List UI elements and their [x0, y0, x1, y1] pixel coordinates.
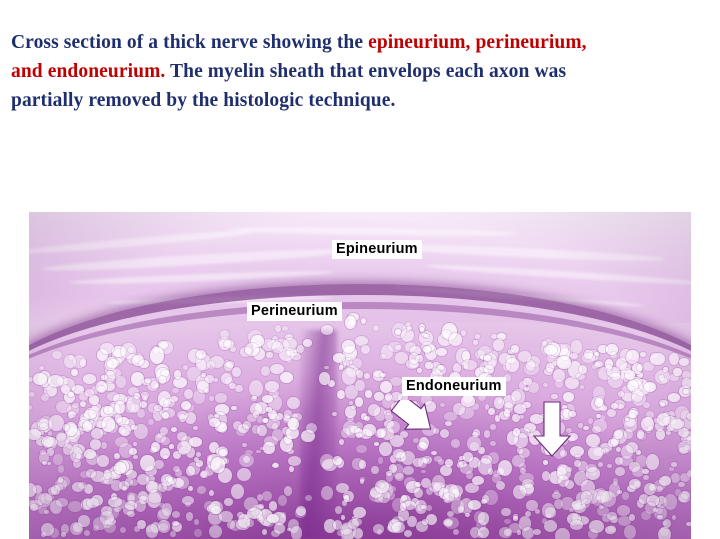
axon-profile	[58, 465, 64, 472]
axon-profile	[461, 395, 475, 407]
axon-profile	[100, 343, 113, 354]
axon-profile	[528, 382, 539, 393]
axon-profile	[114, 462, 125, 474]
axon-profile	[478, 458, 492, 475]
axon-profile	[100, 511, 113, 525]
axon-profile	[148, 490, 161, 504]
axon-profile	[291, 353, 300, 360]
axon-profile	[641, 417, 654, 431]
axon-profile	[176, 476, 190, 489]
axon-profile	[664, 494, 677, 509]
axon-profile	[580, 385, 584, 389]
axon-profile	[533, 529, 540, 535]
axon-profile	[501, 508, 511, 517]
axon-profile	[78, 482, 86, 488]
axon-profile	[64, 355, 76, 368]
axon-profile	[177, 441, 191, 454]
axon-profile	[134, 424, 148, 440]
axon-profile	[170, 531, 175, 537]
axon-profile	[542, 471, 550, 481]
axon-profile	[236, 428, 246, 436]
axon-profile	[424, 334, 429, 338]
axon-profile	[519, 415, 524, 418]
axon-profile	[29, 405, 32, 410]
axon-profile	[215, 393, 226, 403]
axon-profile	[253, 411, 259, 418]
axon-profile	[173, 377, 187, 388]
axon-profile	[636, 455, 647, 467]
axon-profile	[164, 399, 174, 407]
axon-profile	[154, 460, 164, 469]
axon-profile	[582, 499, 590, 508]
axon-profile	[224, 340, 234, 348]
axon-profile	[297, 345, 304, 353]
axon-profile	[342, 368, 356, 385]
axon-profile	[262, 491, 273, 501]
axon-profile	[72, 403, 78, 408]
axon-profile	[116, 376, 126, 387]
axon-profile	[289, 466, 294, 471]
axon-profile	[593, 419, 607, 433]
axon-profile	[140, 455, 154, 471]
axon-profile	[682, 371, 690, 379]
axon-profile	[678, 441, 691, 453]
axon-profile	[266, 352, 272, 358]
endoneurium-pointer-arrow-right	[531, 400, 577, 460]
axon-profile	[349, 401, 354, 405]
axon-profile	[353, 507, 365, 518]
axon-profile	[632, 389, 643, 402]
axon-profile	[632, 466, 644, 477]
axon-profile	[650, 353, 665, 364]
axon-profile	[444, 517, 459, 529]
axon-profile	[266, 407, 272, 412]
caption-line-2: and endoneurium. The myelin sheath that …	[11, 57, 711, 86]
axon-profile	[368, 404, 380, 416]
axon-profile	[484, 430, 491, 437]
caption-line-1: Cross section of a thick nerve showing t…	[11, 28, 711, 57]
axon-profile	[420, 327, 425, 332]
axon-profile	[245, 347, 252, 354]
axon-profile	[355, 429, 364, 437]
axon-profile	[363, 424, 376, 436]
axon-profile	[242, 443, 247, 448]
axon-profile	[374, 392, 383, 401]
axon-profile	[374, 442, 379, 446]
axon-profile	[522, 527, 534, 539]
axon-profile	[133, 442, 137, 446]
label-endoneurium: Endoneurium	[402, 377, 506, 396]
axon-profile	[567, 467, 572, 472]
axon-profile	[361, 318, 366, 324]
axon-profile	[352, 518, 362, 526]
axon-profile	[683, 389, 689, 395]
axon-profile	[403, 466, 414, 475]
axon-profile	[119, 481, 129, 489]
axon-profile	[224, 498, 233, 506]
axon-profile	[201, 470, 209, 477]
axon-profile	[291, 526, 302, 539]
axon-profile	[269, 501, 277, 511]
axon-profile	[570, 353, 578, 359]
axon-profile	[511, 391, 520, 401]
axon-profile	[137, 474, 149, 485]
axon-profile	[336, 483, 348, 493]
axon-profile	[119, 425, 130, 437]
axon-profile	[30, 500, 41, 509]
caption-segment: partially removed by the histologic tech…	[11, 90, 395, 111]
axon-profile	[303, 339, 312, 346]
axon-profile	[282, 326, 288, 331]
axon-profile	[177, 432, 188, 441]
axon-profile	[462, 360, 476, 370]
axon-profile	[687, 470, 691, 477]
axon-profile	[390, 377, 401, 385]
axon-profile	[342, 500, 347, 506]
axon-profile	[84, 449, 96, 460]
axon-profile	[247, 519, 254, 527]
axon-profile	[637, 364, 643, 371]
axon-profile	[359, 460, 367, 469]
axon-profile	[272, 342, 283, 353]
axon-profile	[243, 421, 250, 429]
axon-profile	[186, 512, 194, 521]
axon-profile	[29, 392, 35, 397]
axon-profile	[373, 325, 379, 330]
axon-profile	[655, 370, 670, 384]
axon-profile	[669, 353, 678, 364]
axon-profile	[120, 527, 126, 533]
axon-profile	[557, 356, 570, 370]
axon-profile	[404, 530, 412, 537]
axon-profile	[436, 348, 447, 356]
axon-profile	[511, 345, 519, 353]
axon-profile	[91, 428, 103, 439]
axon-profile	[441, 330, 451, 337]
axon-profile	[475, 334, 481, 339]
axon-profile	[68, 392, 74, 397]
axon-profile	[518, 351, 530, 362]
axon-profile	[278, 495, 287, 506]
axon-profile	[682, 378, 691, 387]
axon-profile	[646, 454, 659, 469]
axon-profile	[296, 506, 305, 516]
axon-profile	[472, 476, 484, 485]
axon-profile	[605, 365, 612, 371]
axon-profile	[49, 415, 63, 431]
axon-profile	[319, 372, 329, 384]
axon-profile	[451, 439, 461, 448]
axon-profile	[395, 329, 401, 335]
axon-profile	[668, 393, 680, 402]
axon-profile	[671, 462, 677, 467]
axon-profile	[87, 498, 99, 508]
axon-profile	[406, 322, 411, 327]
axon-profile	[172, 511, 180, 518]
axon-profile	[197, 486, 206, 494]
axon-profile	[605, 526, 616, 535]
axon-profile	[555, 379, 563, 388]
axon-profile	[275, 325, 281, 332]
axon-profile	[158, 483, 167, 492]
axon-profile	[159, 523, 168, 531]
axon-profile	[615, 467, 625, 475]
axon-profile	[514, 404, 526, 414]
slide-canvas: Cross section of a thick nerve showing t…	[0, 0, 720, 539]
axon-profile	[519, 381, 527, 389]
axon-profile	[582, 353, 595, 362]
axon-profile	[425, 362, 432, 370]
axon-profile	[525, 511, 531, 517]
axon-profile	[188, 486, 193, 491]
axon-profile	[101, 442, 107, 449]
axon-profile	[288, 418, 299, 430]
axon-profile	[159, 376, 166, 383]
axon-profile	[44, 437, 57, 447]
label-perineurium: Perineurium	[247, 302, 342, 321]
axon-profile	[130, 479, 138, 486]
axon-profile	[673, 368, 682, 376]
axon-profile	[421, 470, 426, 473]
axon-profile	[168, 477, 176, 484]
axon-profile	[104, 406, 113, 413]
axon-profile	[231, 484, 244, 498]
axon-profile	[86, 469, 96, 478]
axon-profile	[342, 340, 355, 353]
axon-profile	[333, 456, 341, 465]
axon-profile	[503, 363, 510, 370]
axon-profile	[341, 515, 346, 520]
axon-profile	[574, 460, 581, 467]
axon-profile	[134, 526, 140, 533]
caption-segment: Cross section of a thick nerve showing t…	[11, 32, 368, 53]
axon-profile	[445, 459, 453, 467]
axon-profile	[183, 365, 188, 370]
axon-profile	[617, 505, 630, 515]
axon-profile	[80, 401, 86, 407]
axon-profile	[58, 477, 63, 482]
axon-profile	[409, 353, 419, 364]
axon-profile	[375, 429, 385, 438]
axon-profile	[520, 468, 526, 474]
axon-profile	[473, 340, 478, 345]
axon-profile	[107, 359, 119, 368]
axon-profile	[55, 484, 63, 490]
axon-profile	[622, 492, 629, 499]
axon-profile	[375, 480, 389, 493]
axon-profile	[543, 383, 548, 387]
axon-profile	[392, 522, 404, 533]
axon-profile	[251, 396, 257, 402]
axon-profile	[108, 497, 122, 507]
axon-profile	[543, 460, 548, 464]
axon-profile	[287, 397, 299, 409]
axon-profile	[84, 410, 96, 419]
axon-profile	[626, 350, 639, 364]
axon-profile	[71, 369, 78, 376]
axon-profile	[196, 452, 201, 458]
axon-profile	[161, 370, 169, 377]
axon-profile	[583, 426, 589, 431]
axon-profile	[467, 436, 480, 450]
axon-profile	[644, 483, 655, 494]
axon-profile	[373, 524, 385, 534]
axon-profile	[280, 372, 293, 383]
axon-profile	[504, 402, 513, 413]
axon-profile	[44, 510, 49, 514]
axon-profile	[214, 414, 219, 418]
axon-profile	[321, 325, 332, 334]
axon-profile	[535, 509, 540, 514]
axon-profile	[174, 370, 181, 379]
axon-profile	[555, 528, 569, 539]
axon-profile	[629, 479, 641, 490]
axon-profile	[595, 361, 603, 367]
axon-profile	[608, 439, 618, 448]
axon-profile	[340, 523, 353, 535]
axon-profile	[135, 500, 146, 512]
caption-segment-highlight: epineurium, perineurium,	[368, 32, 587, 53]
axon-profile	[171, 427, 177, 432]
axon-profile	[588, 446, 602, 460]
axon-profile	[551, 394, 558, 399]
axon-profile	[578, 423, 583, 427]
axon-profile	[78, 515, 90, 526]
axon-profile	[554, 499, 563, 510]
axon-profile	[611, 403, 618, 409]
axon-profile	[669, 417, 682, 432]
axon-profile	[239, 454, 254, 467]
axon-profile	[571, 340, 582, 353]
axon-profile	[546, 363, 555, 372]
axon-profile	[159, 503, 165, 508]
axon-profile	[629, 514, 635, 521]
axon-profile	[83, 374, 95, 383]
axon-profile	[115, 401, 126, 414]
axon-profile	[451, 499, 464, 514]
axon-profile	[224, 362, 233, 371]
axon-profile	[686, 522, 691, 526]
axon-profile	[371, 466, 379, 474]
axon-profile	[444, 412, 457, 422]
axon-profile	[644, 382, 656, 392]
axon-profile	[274, 523, 286, 533]
axon-profile	[499, 527, 512, 537]
axon-profile	[364, 416, 370, 421]
axon-profile	[132, 355, 144, 366]
axon-profile	[589, 520, 604, 533]
axon-profile	[61, 532, 67, 537]
axon-profile	[89, 395, 99, 405]
axon-profile	[56, 498, 67, 506]
axon-profile	[184, 389, 193, 399]
axon-profile	[53, 454, 62, 465]
caption-segment-highlight: and endoneurium.	[11, 61, 165, 82]
axon-profile	[400, 503, 406, 511]
axon-profile	[244, 497, 259, 511]
label-epineurium: Epineurium	[332, 240, 422, 259]
axon-profile	[417, 368, 422, 373]
axon-profile	[490, 424, 497, 429]
axon-profile	[482, 495, 489, 502]
axon-profile	[513, 428, 520, 436]
axon-profile	[463, 452, 473, 462]
axon-profile	[356, 445, 367, 453]
axon-profile	[186, 466, 194, 476]
axon-profile	[601, 491, 615, 507]
axon-profile	[65, 437, 78, 448]
axon-profile	[151, 381, 158, 389]
axon-profile	[445, 421, 452, 427]
axon-profile	[107, 392, 120, 401]
axon-profile	[76, 453, 81, 458]
axon-profile	[599, 505, 604, 509]
axon-profile	[356, 370, 363, 378]
axon-profile	[679, 358, 689, 366]
axon-profile	[520, 482, 534, 496]
axon-profile	[213, 378, 218, 382]
axon-profile	[488, 408, 494, 415]
axon-profile	[105, 371, 115, 382]
axon-profile	[461, 330, 466, 336]
axon-profile	[209, 396, 214, 400]
axon-profile	[669, 467, 674, 471]
axon-profile	[658, 527, 671, 539]
axon-profile	[687, 413, 691, 420]
axon-profile	[620, 363, 631, 373]
axon-profile	[624, 525, 636, 539]
axon-profile	[588, 418, 593, 424]
axon-profile	[429, 482, 441, 492]
axon-profile	[519, 448, 530, 458]
axon-profile	[211, 457, 225, 473]
axon-profile	[678, 482, 684, 487]
axon-profile	[542, 518, 547, 524]
axon-profile	[494, 397, 504, 409]
axon-profile	[172, 388, 179, 393]
axon-profile	[48, 375, 62, 387]
axon-profile	[160, 427, 168, 435]
slide-caption: Cross section of a thick nerve showing t…	[11, 28, 711, 115]
endoneurium-pointer-arrow-left	[389, 400, 445, 456]
axon-profile	[345, 316, 356, 329]
axon-profile	[614, 430, 623, 439]
axon-profile	[142, 395, 149, 400]
nerve-cross-section-micrograph: Epineurium Perineurium Endoneurium	[29, 212, 691, 539]
axon-profile	[207, 361, 215, 369]
axon-profile	[169, 444, 174, 448]
axon-profile	[257, 494, 263, 501]
axon-profile	[324, 366, 329, 370]
axon-profile	[343, 495, 349, 500]
axon-profile	[257, 515, 263, 520]
axon-profile	[596, 414, 600, 418]
axon-profile	[103, 473, 114, 484]
axon-profile	[97, 421, 106, 428]
axon-profile	[231, 406, 236, 410]
axon-profile	[85, 389, 94, 396]
axon-profile	[52, 351, 62, 359]
axon-profile	[161, 437, 169, 445]
axon-profile	[401, 495, 407, 502]
axon-profile	[485, 404, 489, 409]
axon-profile	[621, 445, 633, 458]
axon-profile	[608, 373, 623, 388]
axon-profile	[493, 339, 504, 351]
axon-profile	[97, 386, 104, 392]
axon-profile	[196, 359, 206, 371]
axon-profile	[663, 519, 671, 528]
